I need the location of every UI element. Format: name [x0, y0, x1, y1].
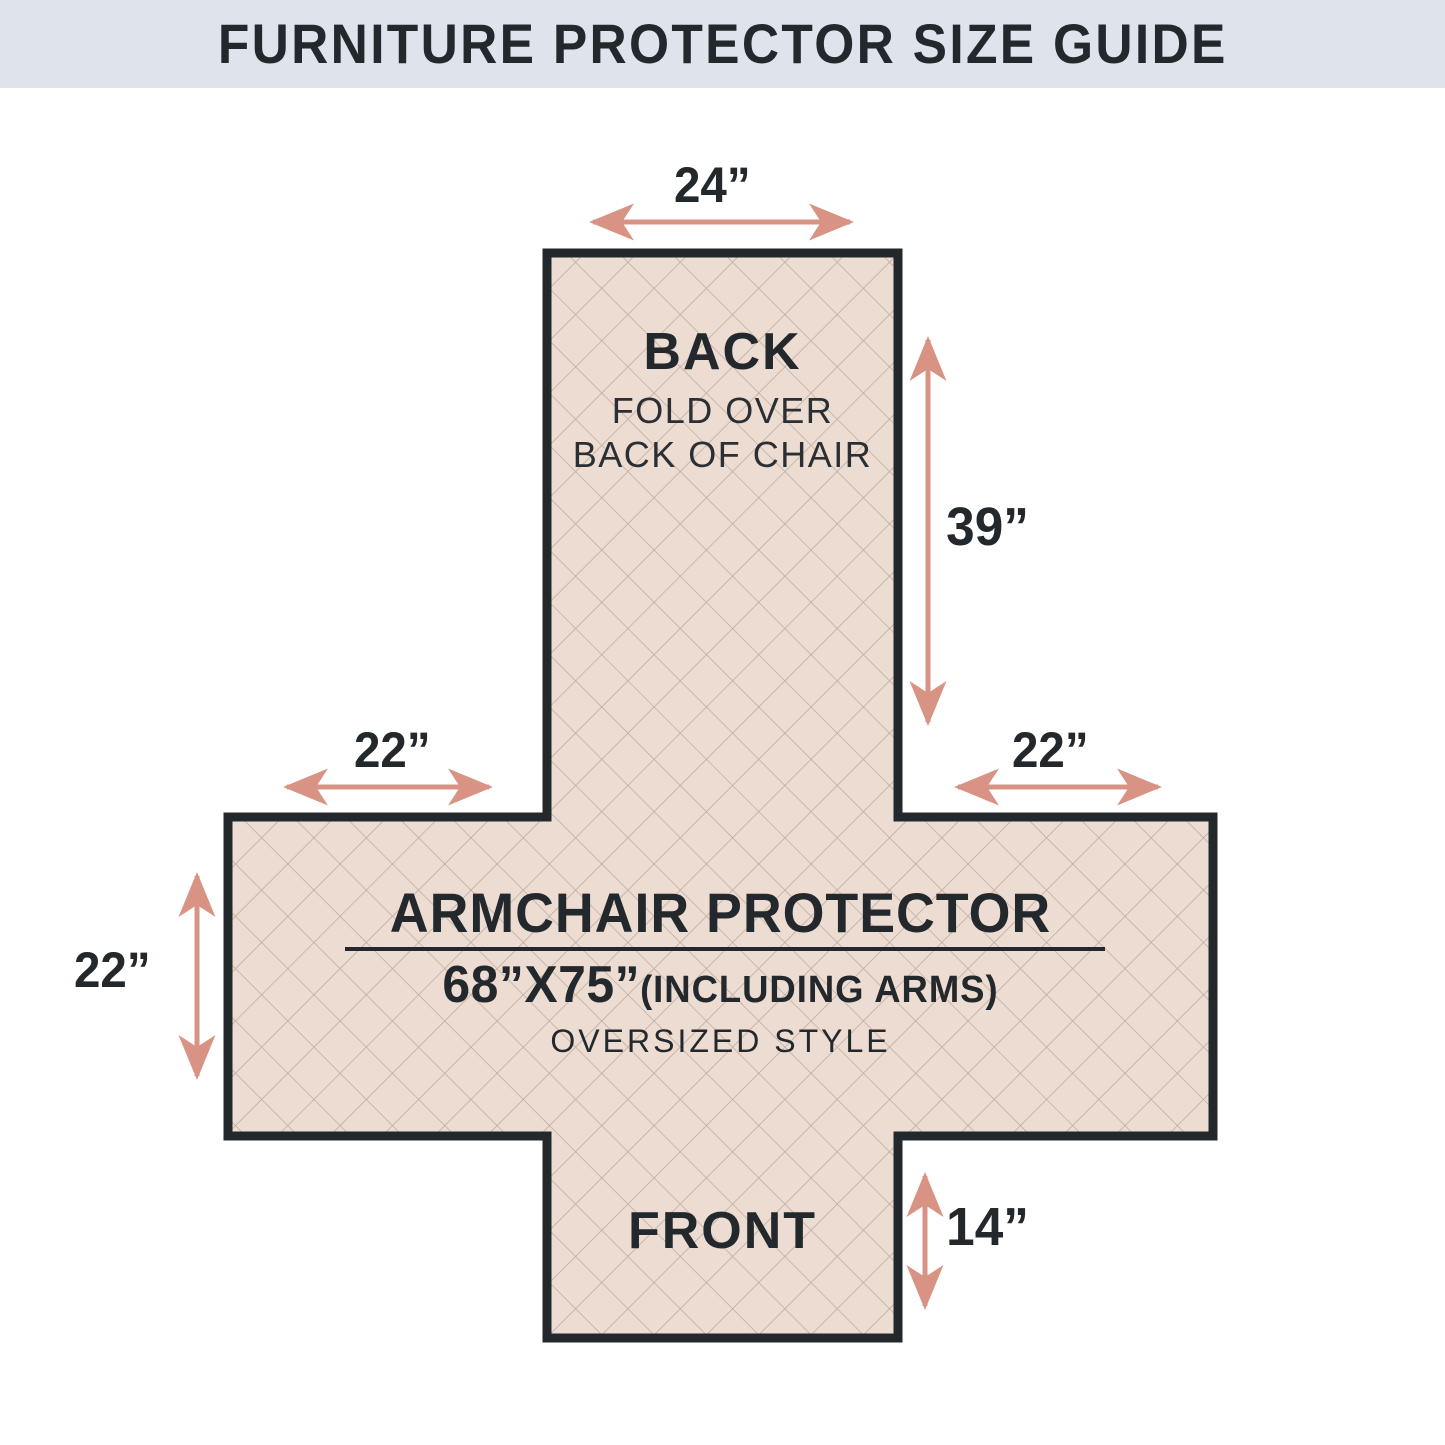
back-panel-title: BACK [547, 325, 898, 380]
dimension-label-seat-depth: 22” [74, 945, 151, 995]
back-panel-subtitle-line-2: BACK OF CHAIR [527, 436, 918, 474]
dimension-label-front-drop: 14” [946, 1200, 1029, 1254]
center-panel-title: ARMCHAIR PROTECTOR [248, 884, 1194, 943]
size-guide-infographic: FURNITURE PROTECTOR SIZE GUIDE [0, 0, 1445, 1445]
front-panel-title: FRONT [547, 1204, 898, 1259]
back-panel-subtitle-line-1: FOLD OVER [527, 392, 918, 430]
dimension-label-right-arm-width: 22” [1012, 725, 1089, 775]
dimension-label-left-arm-width: 22” [354, 725, 431, 775]
dimension-label-back-width: 24” [674, 160, 751, 210]
center-panel-size-note: (INCLUDING ARMS) [640, 969, 999, 1011]
back-panel-subtitle: FOLD OVER BACK OF CHAIR [527, 392, 918, 480]
center-panel-divider [345, 947, 1105, 951]
dimension-label-back-length: 39” [946, 500, 1029, 554]
center-panel-style: OVERSIZED STYLE [228, 1025, 1213, 1059]
center-panel-size: 68”X75” [442, 956, 640, 1014]
center-panel-size-line: 68”X75”(INCLUDING ARMS) [248, 958, 1194, 1013]
